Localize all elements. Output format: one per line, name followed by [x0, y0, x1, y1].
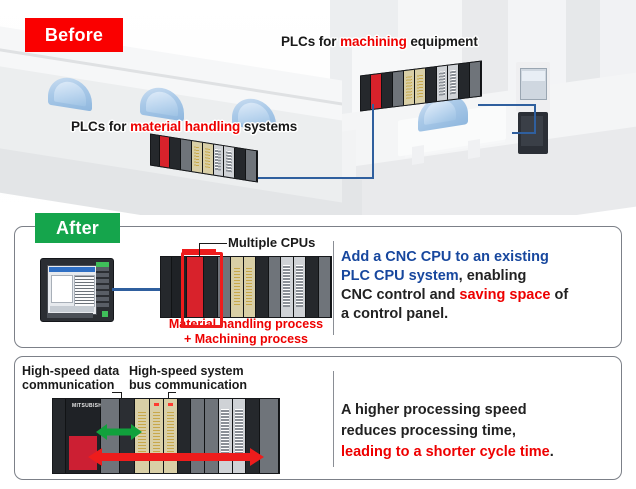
callout-multiple-cpus: Multiple CPUs [228, 236, 315, 250]
cnc-keypad [96, 267, 109, 307]
red-double-arrow [88, 448, 264, 466]
description-line-2: PLC CPU system, enabling [341, 267, 568, 286]
cnc-screen [47, 265, 97, 315]
label-plc-machining: PLCs for machining equipment [281, 34, 478, 49]
network-cable [478, 104, 536, 106]
before-scene: Before PLCs for machining equipment PLCs… [0, 0, 636, 215]
label-high-speed-bus-comm: High-speed system bus communication [129, 364, 247, 392]
label-line-1: High-speed data [22, 364, 119, 378]
label-line-1: High-speed system [129, 364, 247, 378]
green-double-arrow [96, 424, 142, 440]
panel-divider [333, 371, 334, 467]
label-plc-material-handling: PLCs for material handling systems [71, 119, 297, 134]
work-table-leg [468, 139, 480, 159]
network-cable [372, 104, 374, 179]
network-cable [258, 177, 374, 179]
speed-line-1: A higher processing speed [341, 400, 554, 421]
cnc-display-unit [40, 258, 114, 322]
network-cable [512, 132, 536, 134]
network-cable [534, 104, 536, 134]
label-line-2: bus communication [129, 378, 247, 392]
speed-description: A higher processing speed reduces proces… [341, 400, 554, 463]
callout-leader-vertical [199, 243, 200, 257]
after-description: Add a CNC CPU to an existing PLC CPU sys… [341, 248, 568, 324]
caption-line-2: + Machining process [146, 332, 346, 347]
speed-line-3: leading to a shorter cycle time. [341, 442, 554, 463]
description-line-4: a control panel. [341, 305, 568, 324]
cnc-softkey-row [47, 313, 93, 318]
callout-leader-horizontal [199, 243, 227, 244]
cabinet-display [520, 68, 547, 100]
infographic-root: Before PLCs for machining equipment PLCs… [0, 0, 636, 489]
before-badge: Before [25, 18, 123, 52]
label-high-speed-data-comm: High-speed data communication [22, 364, 119, 392]
multi-cpu-highlight-box [181, 252, 223, 328]
after-badge-label: After [56, 218, 99, 239]
description-line-3: CNC control and saving space of [341, 286, 568, 305]
after-badge: After [35, 213, 120, 243]
description-line-1: Add a CNC CPU to an existing [341, 248, 568, 267]
before-badge-label: Before [45, 25, 103, 46]
after-process-caption: Material handling process + Machining pr… [146, 317, 346, 347]
speed-line-2: reduces processing time, [341, 421, 554, 442]
network-cable [112, 288, 162, 291]
cnc-status-light [102, 311, 108, 317]
work-table-leg [412, 145, 424, 165]
cnc-status-light [96, 262, 109, 267]
caption-line-1: Material handling process [146, 317, 346, 332]
label-line-2: communication [22, 378, 119, 392]
